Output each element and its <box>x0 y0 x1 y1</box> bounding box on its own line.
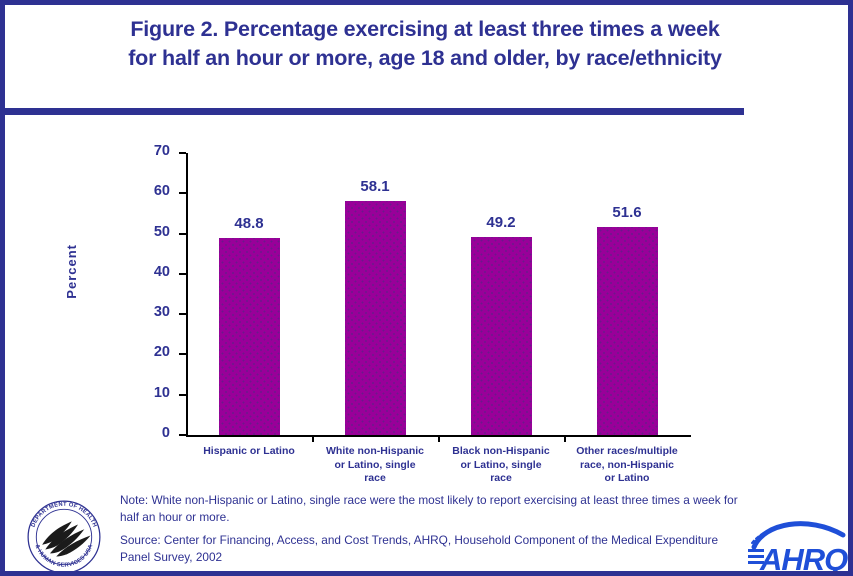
y-axis-tick-label: 20 <box>5 344 170 360</box>
y-axis-tick-label: 0 <box>5 425 170 441</box>
y-axis-tick <box>179 152 186 154</box>
y-axis-tick <box>179 233 186 235</box>
bar-value-label: 58.1 <box>360 178 389 195</box>
x-axis-category-label-line: race, non-Hispanic <box>555 459 699 473</box>
title-line-2: for half an hour or more, age 18 and old… <box>10 44 840 73</box>
x-axis-category-label-line: Black non-Hispanic <box>429 445 573 459</box>
bar-value-label: 49.2 <box>486 214 515 231</box>
footer-note: Note: White non-Hispanic or Latino, sing… <box>120 492 740 525</box>
y-axis-line <box>186 153 188 436</box>
y-axis-tick-label: 30 <box>5 304 170 320</box>
y-axis-tick-label: 60 <box>5 183 170 199</box>
y-axis-tick-label: 10 <box>5 385 170 401</box>
bar-chart: Percent 010203040506070 48.858.149.251.6… <box>5 123 848 493</box>
header-divider-rule <box>5 108 744 115</box>
slide-canvas: Figure 2. Percentage exercising at least… <box>0 0 853 576</box>
x-axis-category-label: White non-Hispanicor Latino, singlerace <box>303 445 447 486</box>
y-axis-tick-label: 40 <box>5 264 170 280</box>
y-axis-tick <box>179 273 186 275</box>
y-axis-tick <box>179 192 186 194</box>
x-axis-category-label-line: or Latino, single <box>429 459 573 473</box>
title-line-1: Figure 2. Percentage exercising at least… <box>10 15 840 44</box>
footer-source: Source: Center for Financing, Access, an… <box>120 532 740 565</box>
x-axis-category-label: Other races/multiplerace, non-Hispanicor… <box>555 445 699 486</box>
bar <box>219 238 280 435</box>
y-axis-tick-label: 70 <box>5 143 170 159</box>
bar-value-label: 51.6 <box>612 204 641 221</box>
bar-value-label: 48.8 <box>234 215 263 232</box>
y-axis-tick <box>179 394 186 396</box>
bar <box>471 237 532 435</box>
y-axis-tick <box>179 353 186 355</box>
hhs-seal-logo: DEPARTMENT OF HEALTH & HUMAN SERVICES US… <box>25 498 103 576</box>
x-axis-category-label-line: race <box>303 472 447 486</box>
x-axis-category-label-line: White non-Hispanic <box>303 445 447 459</box>
y-axis-tick-label: 50 <box>5 224 170 240</box>
ahrq-logo: AHRQ <box>746 513 853 575</box>
x-axis-category-label-line: or Latino, single <box>303 459 447 473</box>
x-axis-category-label-line: or Latino <box>555 472 699 486</box>
y-axis-tick <box>179 434 186 436</box>
x-axis-category-label-line: race <box>429 472 573 486</box>
x-axis-separator-tick <box>312 435 314 442</box>
x-axis-separator-tick <box>564 435 566 442</box>
x-axis-category-label: Black non-Hispanicor Latino, singlerace <box>429 445 573 486</box>
bar <box>345 201 406 435</box>
svg-text:AHRQ: AHRQ <box>759 542 848 575</box>
y-axis-tick <box>179 313 186 315</box>
x-axis-category-label: Hispanic or Latino <box>177 445 321 459</box>
svg-text:DEPARTMENT OF HEALTH: DEPARTMENT OF HEALTH <box>30 502 97 528</box>
bar <box>597 227 658 435</box>
x-axis-category-label-line: Hispanic or Latino <box>177 445 321 459</box>
x-axis-separator-tick <box>438 435 440 442</box>
page-title: Figure 2. Percentage exercising at least… <box>10 15 840 73</box>
x-axis-category-label-line: Other races/multiple <box>555 445 699 459</box>
